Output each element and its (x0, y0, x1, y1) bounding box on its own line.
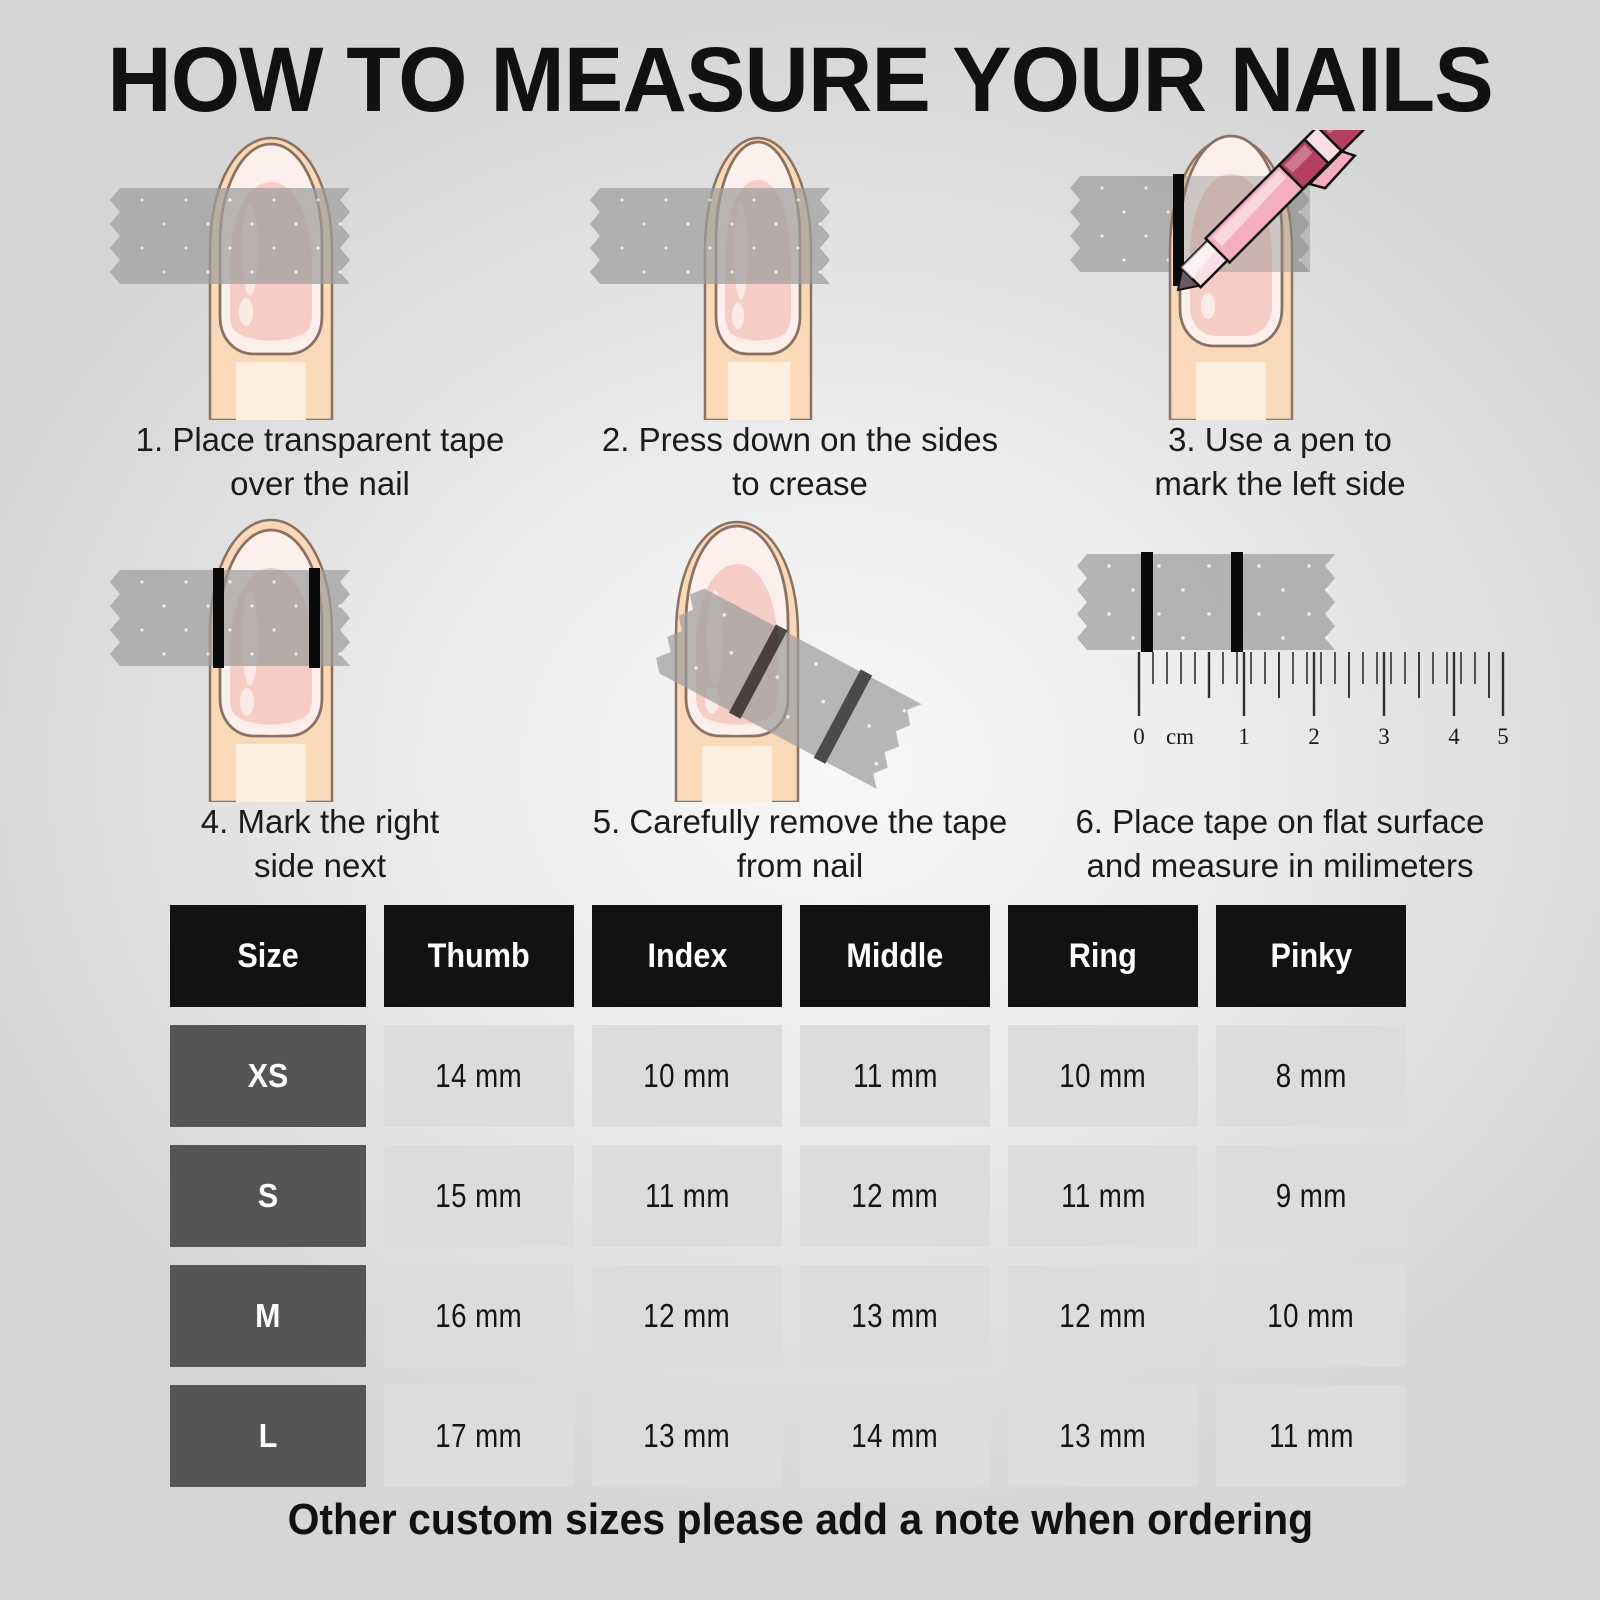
size-label: L (259, 1417, 278, 1455)
step-4: 4. Mark the right side next (100, 512, 540, 892)
size-cell-xs: XS (170, 1025, 366, 1127)
value-cell: 11 mm (1216, 1385, 1406, 1487)
value-label: 15 mm (436, 1177, 523, 1215)
ruler-unit-label: cm (1166, 724, 1194, 749)
value-cell: 16 mm (384, 1265, 574, 1367)
value-cell: 12 mm (592, 1265, 782, 1367)
value-label: 12 mm (644, 1297, 731, 1335)
value-cell: 15 mm (384, 1145, 574, 1247)
value-label: 13 mm (644, 1417, 731, 1455)
value-cell: 13 mm (800, 1265, 990, 1367)
table-header-middle: Middle (800, 905, 990, 1007)
table-header-ring: Ring (1008, 905, 1198, 1007)
step-4-caption: 4. Mark the right side next (100, 800, 540, 888)
table-header-index-label: Index (647, 937, 727, 976)
value-cell: 12 mm (1008, 1265, 1198, 1367)
step-5-caption: 5. Carefully remove the tape from nail (580, 800, 1020, 888)
size-label: XS (248, 1057, 289, 1095)
size-label: M (255, 1297, 280, 1335)
table-header-ring-label: Ring (1069, 937, 1137, 976)
value-cell: 10 mm (1008, 1025, 1198, 1127)
step-4-illustration (100, 512, 540, 802)
value-cell: 17 mm (384, 1385, 574, 1487)
ruler-labels: 0 cm 1 2 3 4 5 (1133, 724, 1509, 749)
value-label: 10 mm (644, 1057, 731, 1095)
value-cell: 12 mm (800, 1145, 990, 1247)
value-cell: 13 mm (1008, 1385, 1198, 1487)
size-table: Size Thumb Index Middle Ring Pinky XS 14… (170, 905, 1435, 1505)
value-cell: 9 mm (1216, 1145, 1406, 1247)
step-3-illustration (1060, 130, 1520, 420)
table-row: XS 14 mm 10 mm 11 mm 10 mm 8 mm (170, 1025, 1435, 1127)
value-label: 8 mm (1276, 1057, 1347, 1095)
value-label: 17 mm (436, 1417, 523, 1455)
value-label: 11 mm (645, 1177, 730, 1215)
infographic-page: HOW TO MEASURE YOUR NAILS (0, 0, 1600, 1600)
value-label: 12 mm (1060, 1297, 1147, 1335)
pen-mark-left (1141, 552, 1153, 652)
pen-mark-right (309, 568, 320, 668)
table-header-index: Index (592, 905, 782, 1007)
tape-strip (590, 188, 830, 284)
value-label: 9 mm (1276, 1177, 1347, 1215)
table-header-middle-label: Middle (847, 937, 944, 976)
table-header-pinky-label: Pinky (1270, 937, 1352, 976)
value-cell: 11 mm (592, 1145, 782, 1247)
value-label: 14 mm (436, 1057, 523, 1095)
step-3-caption: 3. Use a pen to mark the left side (1060, 418, 1500, 506)
value-label: 13 mm (1060, 1417, 1147, 1455)
table-header-thumb-label: Thumb (428, 937, 530, 976)
tape-strip (110, 188, 350, 284)
tape-strip (1077, 554, 1335, 650)
value-label: 13 mm (852, 1297, 939, 1335)
value-cell: 8 mm (1216, 1025, 1406, 1127)
value-label: 12 mm (852, 1177, 939, 1215)
size-cell-s: S (170, 1145, 366, 1247)
step-5: 5. Carefully remove the tape from nail (580, 512, 1020, 892)
table-row: L 17 mm 13 mm 14 mm 13 mm 11 mm (170, 1385, 1435, 1487)
value-label: 11 mm (853, 1057, 938, 1095)
step-6-caption: 6. Place tape on flat surface and measur… (1045, 800, 1515, 888)
ruler-tick-1: 1 (1238, 724, 1250, 749)
value-cell: 10 mm (592, 1025, 782, 1127)
value-label: 16 mm (436, 1297, 523, 1335)
step-2-illustration (580, 130, 1020, 420)
step-6-illustration: 0 cm 1 2 3 4 5 (1045, 512, 1515, 772)
value-cell: 14 mm (800, 1385, 990, 1487)
step-1-illustration (100, 130, 540, 420)
ruler-tick-3: 3 (1378, 724, 1390, 749)
table-header-pinky: Pinky (1216, 905, 1406, 1007)
footer-note-label: Other custom sizes please add a note whe… (287, 1495, 1313, 1545)
step-5-illustration (580, 512, 1040, 802)
ruler-icon (1139, 652, 1503, 716)
table-row: S 15 mm 11 mm 12 mm 11 mm 9 mm (170, 1145, 1435, 1247)
value-cell: 13 mm (592, 1385, 782, 1487)
ruler-tick-0: 0 (1133, 724, 1145, 749)
table-header-thumb: Thumb (384, 905, 574, 1007)
size-cell-l: L (170, 1385, 366, 1487)
ruler-tick-4: 4 (1448, 724, 1460, 749)
value-cell: 11 mm (800, 1025, 990, 1127)
value-label: 11 mm (1061, 1177, 1146, 1215)
step-6: 0 cm 1 2 3 4 5 6. Place tape on flat sur… (1045, 512, 1515, 892)
table-header-size-label: Size (237, 937, 298, 976)
table-header-row: Size Thumb Index Middle Ring Pinky (170, 905, 1435, 1007)
table-row: M 16 mm 12 mm 13 mm 12 mm 10 mm (170, 1265, 1435, 1367)
step-1: 1. Place transparent tape over the nail (100, 130, 540, 510)
page-title: HOW TO MEASURE YOUR NAILS (24, 28, 1576, 133)
step-1-caption: 1. Place transparent tape over the nail (100, 418, 540, 506)
value-label: 10 mm (1060, 1057, 1147, 1095)
table-header-size: Size (170, 905, 366, 1007)
value-cell: 10 mm (1216, 1265, 1406, 1367)
value-cell: 14 mm (384, 1025, 574, 1127)
footer-note: Other custom sizes please add a note whe… (0, 1495, 1600, 1545)
pen-mark-left (213, 568, 224, 668)
value-label: 11 mm (1269, 1417, 1354, 1455)
value-label: 10 mm (1268, 1297, 1355, 1335)
pen-mark-right (1231, 552, 1243, 652)
size-label: S (258, 1177, 278, 1215)
step-2-caption: 2. Press down on the sides to crease (580, 418, 1020, 506)
ruler-tick-2: 2 (1308, 724, 1320, 749)
value-cell: 11 mm (1008, 1145, 1198, 1247)
step-3: 3. Use a pen to mark the left side (1060, 130, 1500, 510)
value-label: 14 mm (852, 1417, 939, 1455)
ruler-tick-5: 5 (1497, 724, 1509, 749)
step-2: 2. Press down on the sides to crease (580, 130, 1020, 510)
size-cell-m: M (170, 1265, 366, 1367)
